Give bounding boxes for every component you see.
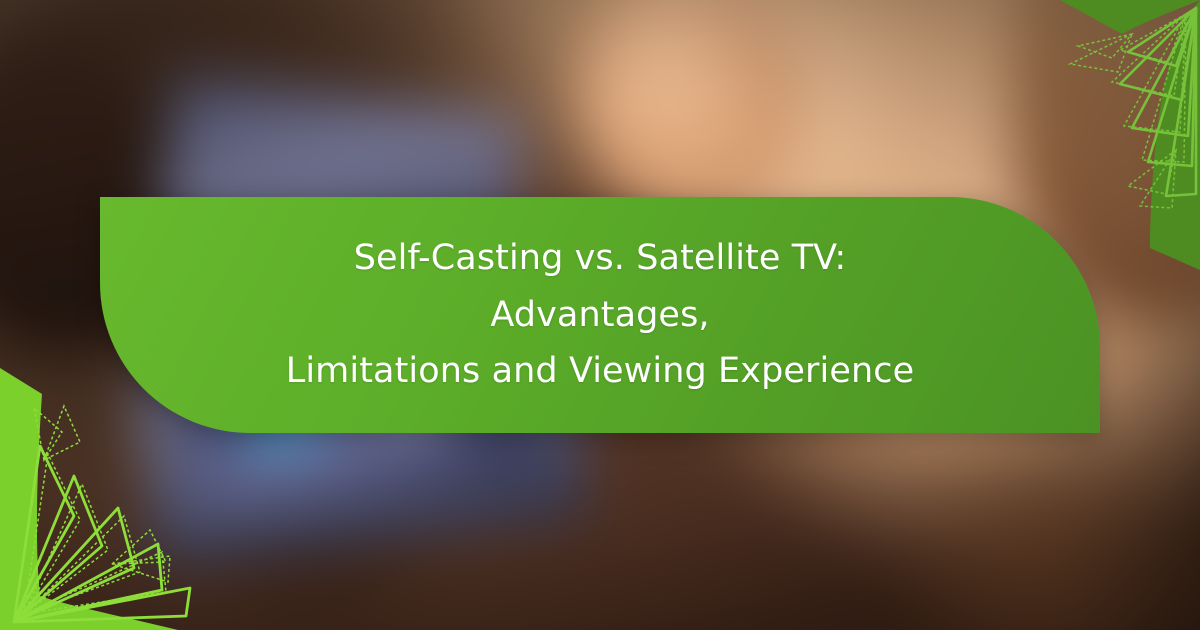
title-banner: Self-Casting vs. Satellite TV: Advantage… [100,197,1100,433]
page-title-line-2: Limitations and Viewing Experience [286,351,914,391]
page-title-line-1: Self-Casting vs. Satellite TV: Advantage… [354,238,847,335]
page-title: Self-Casting vs. Satellite TV: Advantage… [250,230,950,400]
social-share-card: Self-Casting vs. Satellite TV: Advantage… [0,0,1200,630]
